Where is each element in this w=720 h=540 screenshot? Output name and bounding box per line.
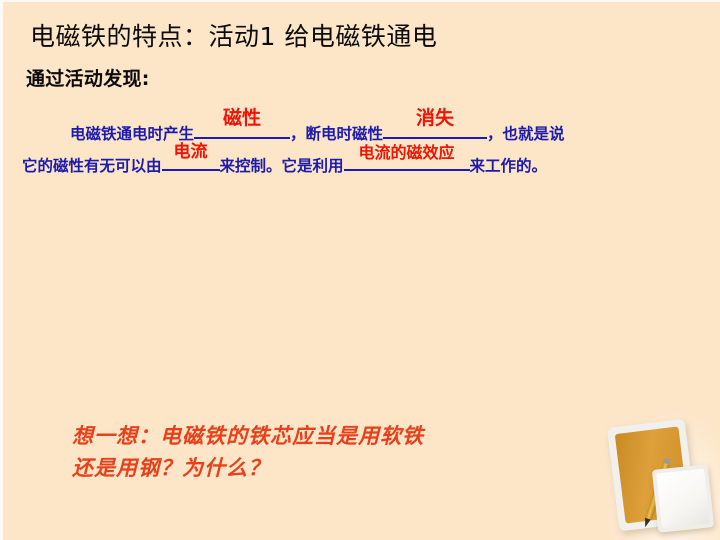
thinking-prompt-line-1: 想一想：电磁铁的铁芯应当是用软铁 (72, 420, 592, 452)
pencil-tip (642, 518, 650, 528)
fill-in-paragraph: 电磁铁通电时产生磁性，断电时磁性消失，也就是说 它的磁性有无可以由电流来控制。它… (22, 118, 698, 182)
slide-title: 电磁铁的特点：活动1 给电磁铁通电 (30, 20, 437, 54)
line2-segment-c: 来工作的。 (470, 157, 548, 175)
blank-4[interactable]: 电流的磁效应 (344, 150, 470, 171)
line2-segment-a: 它的磁性有无可以由 (22, 157, 162, 175)
blank-1[interactable]: 磁性 (194, 118, 290, 139)
notepad-sheet (656, 469, 709, 529)
thinking-prompt-line-2: 还是用钢？为什么？ (72, 452, 592, 484)
thinking-prompt: 想一想：电磁铁的铁芯应当是用软铁 还是用钢？为什么？ (72, 420, 592, 484)
notepad-icon (652, 464, 714, 533)
notebook-pencil-illustration (600, 405, 720, 540)
slide-top-edge-strip (0, 0, 720, 2)
slide-canvas: 电磁铁的特点：活动1 给电磁铁通电 通过活动发现: 电磁铁通电时产生磁性，断电时… (0, 0, 720, 540)
line2-segment-b: 来控制。它是利用 (220, 157, 344, 175)
blank-2-answer: 消失 (416, 103, 454, 134)
fill-in-line-2: 它的磁性有无可以由电流来控制。它是利用电流的磁效应来工作的。 (22, 150, 698, 182)
blank-3-answer: 电流 (174, 137, 208, 168)
slide-left-edge-strip (0, 0, 3, 540)
blank-1-answer: 磁性 (223, 103, 261, 134)
blank-4-answer: 电流的磁效应 (359, 137, 455, 168)
blank-3[interactable]: 电流 (162, 150, 220, 171)
line1-segment-c: ，也就是说 (487, 125, 565, 143)
slide-subtitle: 通过活动发现: (26, 66, 150, 92)
blank-2[interactable]: 消失 (383, 118, 487, 139)
